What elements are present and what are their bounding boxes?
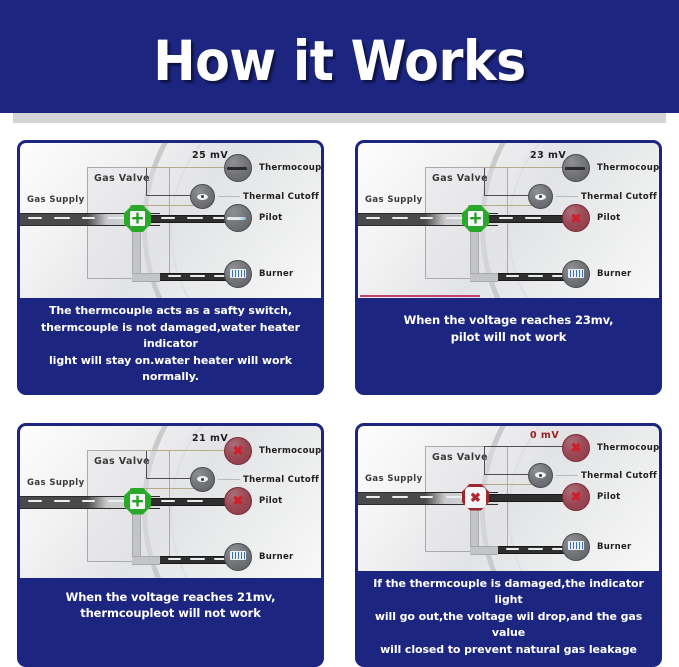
thermocouple-label: Thermocouple — [259, 163, 321, 173]
burner-indicator — [562, 533, 590, 561]
page-title: How it Works — [153, 33, 526, 89]
thermocouple-label: Thermocouple — [597, 163, 659, 173]
caption-line: When the voltage reaches 21mv, — [24, 589, 317, 606]
burner-grill-icon — [230, 269, 246, 278]
burner-grill-icon — [568, 269, 584, 278]
cutoff-eye-icon — [197, 194, 208, 200]
panel-1: Gas Valve Gas Supply — [17, 140, 324, 395]
gas-valve-label: Gas Valve — [432, 173, 488, 184]
panel-4: Gas Valve Gas Supply — [355, 423, 662, 667]
pilot-label: Pilot — [597, 492, 620, 502]
panel-3-caption: When the voltage reaches 21mv, thermcoup… — [20, 578, 321, 634]
thermal-cutoff-switch-indicator — [190, 184, 215, 209]
lead-thermocouple — [146, 167, 228, 168]
lead-thermocouple-vertical — [484, 167, 485, 195]
burner-grill-icon — [568, 541, 584, 550]
cutoff-label-dash — [218, 196, 240, 197]
voltage-label: 25 mV — [192, 150, 228, 161]
gas-valve-label: Gas Valve — [94, 173, 150, 184]
panel-2-caption: When the voltage reaches 23mv, pilot wil… — [358, 298, 659, 360]
cutoff-eye-icon — [535, 472, 546, 478]
caption-line: pilot will not work — [362, 329, 655, 346]
pilot-indicator-failed — [224, 487, 252, 515]
lead-cutoff-switch — [146, 478, 194, 479]
caption-line: will closed to prevent natural gas leaka… — [360, 642, 657, 659]
panel-1-caption: The thermcouple acts as a safty switch, … — [20, 298, 321, 392]
lead-thermocouple — [484, 167, 566, 168]
lead-thermocouple-vertical — [484, 446, 485, 474]
thermal-cutoff-switch-label: Thermal Cutoff Switch — [243, 192, 321, 202]
caption-line: will go out,the voltage wil drop,and the… — [360, 609, 657, 642]
voltage-label: 23 mV — [530, 150, 566, 161]
gas-supply-label: Gas Supply — [365, 474, 423, 484]
lead-thermocouple-vertical — [146, 167, 147, 195]
gas-valve-label: Gas Valve — [432, 452, 488, 463]
thermal-cutoff-switch-label: Thermal Cutoff Switch — [581, 192, 659, 202]
pilot-label: Pilot — [259, 496, 282, 506]
diagram-4: Gas Valve Gas Supply — [358, 426, 659, 571]
caption-line: When the voltage reaches 23mv, — [362, 312, 655, 329]
thermal-cutoff-switch-label: Thermal Cutoff Switch — [243, 475, 321, 485]
pilot-flame-icon — [227, 217, 246, 220]
gas-supply-label: Gas Supply — [27, 195, 85, 205]
caption-line: light will stay on.water heater will wor… — [22, 353, 319, 386]
thermocouple-bar-icon — [227, 167, 247, 170]
thermocouple-indicator-failed — [562, 434, 590, 462]
cutoff-label-dash — [218, 479, 240, 480]
gas-supply-label: Gas Supply — [365, 195, 423, 205]
lead-cutoff-switch — [484, 474, 532, 475]
burner-elbow-pipe — [470, 273, 498, 282]
panel-row-bottom: Gas Valve Gas Supply — [0, 423, 679, 667]
thermal-cutoff-switch-indicator — [528, 463, 553, 488]
panel-4-caption: If the thermcouple is damaged,the indica… — [358, 571, 659, 665]
gas-valve-label: Gas Valve — [94, 456, 150, 467]
pilot-indicator — [224, 204, 252, 232]
row-spacer — [0, 395, 679, 423]
thermal-cutoff-switch-indicator — [528, 184, 553, 209]
header-underline-strip — [13, 113, 666, 123]
pilot-indicator-failed — [562, 204, 590, 232]
cutoff-eye-icon — [535, 194, 546, 200]
caption-line: If the thermcouple is damaged,the indica… — [360, 576, 657, 609]
burner-grill-icon — [230, 551, 246, 560]
lead-thermocouple-vertical — [146, 450, 147, 478]
thermal-cutoff-switch-indicator — [190, 467, 215, 492]
burner-indicator — [562, 260, 590, 288]
voltage-label: 0 mV — [530, 430, 559, 441]
burner-indicator — [224, 543, 252, 571]
panel-2: Gas Valve Gas Supply — [355, 140, 662, 395]
thermocouple-label: Thermocouple — [259, 446, 321, 456]
burner-indicator — [224, 260, 252, 288]
panel-bottom-accent-line — [360, 295, 480, 297]
voltage-label: 21 mV — [192, 433, 228, 444]
diagram-3: Gas Valve Gas Supply — [20, 426, 321, 578]
diagram-1: Gas Valve Gas Supply — [20, 143, 321, 298]
lead-thermocouple — [146, 450, 228, 451]
burner-label: Burner — [259, 552, 294, 562]
panel-grid: Gas Valve Gas Supply — [0, 140, 679, 667]
diagram-2: Gas Valve Gas Supply — [358, 143, 659, 298]
burner-drop-pipe — [132, 514, 141, 562]
pilot-label: Pilot — [597, 213, 620, 223]
pilot-label: Pilot — [259, 213, 282, 223]
burner-elbow-pipe — [132, 556, 160, 565]
gas-valve-control-open — [124, 205, 151, 232]
thermocouple-bar-icon — [565, 167, 585, 170]
burner-label: Burner — [597, 542, 632, 552]
thermal-cutoff-switch-label: Thermal Cutoff Switch — [581, 471, 659, 481]
caption-line: thermcouple is not damaged,water heater … — [22, 320, 319, 353]
burner-elbow-pipe — [470, 546, 498, 555]
cutoff-eye-icon — [197, 476, 208, 482]
lead-thermocouple — [484, 446, 566, 447]
lead-cutoff-switch — [484, 195, 532, 196]
cutoff-label-dash — [556, 196, 578, 197]
burner-drop-pipe — [132, 231, 141, 279]
burner-elbow-pipe — [132, 273, 160, 282]
burner-label: Burner — [597, 269, 632, 279]
panel-row-top: Gas Valve Gas Supply — [0, 140, 679, 395]
caption-line: thermcoupleot will not work — [24, 605, 317, 622]
panel-3: Gas Valve Gas Supply — [17, 423, 324, 667]
pilot-indicator-failed — [562, 483, 590, 511]
lead-cutoff-switch — [146, 195, 194, 196]
thermocouple-label: Thermocouple — [597, 443, 659, 453]
burner-label: Burner — [259, 269, 294, 279]
gas-supply-label: Gas Supply — [27, 478, 85, 488]
burner-drop-pipe — [470, 231, 479, 279]
cutoff-label-dash — [556, 475, 578, 476]
caption-line: The thermcouple acts as a safty switch, — [22, 303, 319, 320]
page-header: How it Works — [0, 0, 679, 113]
